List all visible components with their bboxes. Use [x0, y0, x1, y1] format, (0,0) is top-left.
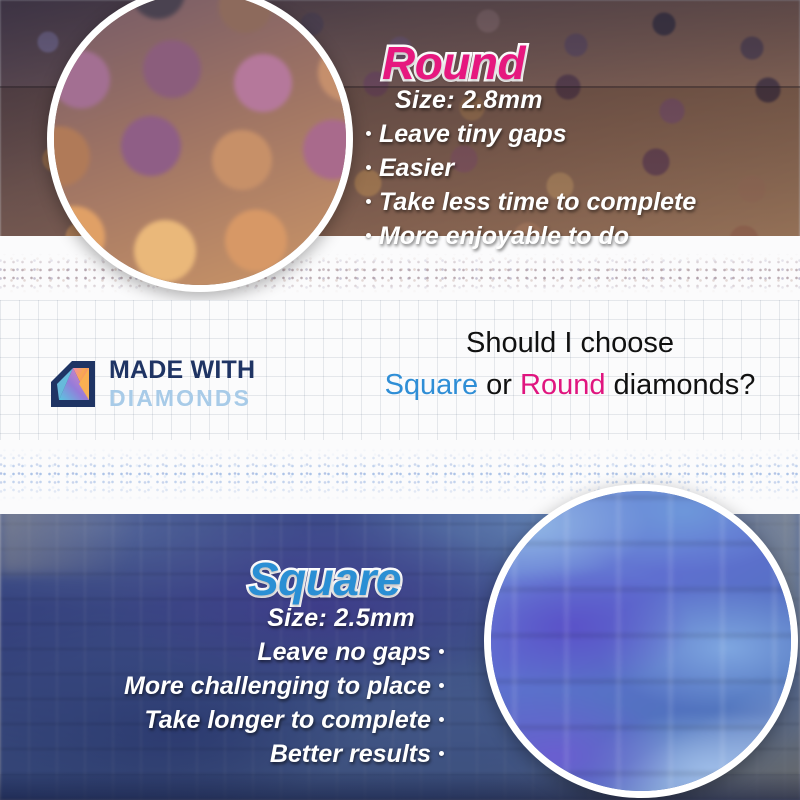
bullet-dot-icon [439, 683, 444, 688]
brand-line-1: MADE WITH [109, 358, 255, 383]
bullet-dot-icon [439, 717, 444, 722]
square-bullet-list: Size: 2.5mm Leave no gaps More challengi… [14, 604, 444, 774]
round-bullet-item: Take less time to complete [366, 188, 786, 217]
round-size-row: Size: 2.8mm [366, 86, 786, 115]
round-bullet-label: Leave tiny gaps [379, 120, 567, 149]
square-bullet-item: More challenging to place [14, 672, 444, 701]
brand-wordmark: MADE WITH DIAMONDS [109, 358, 255, 410]
question-line-2: Square or Round diamonds? [360, 368, 780, 404]
question-line-1: Should I choose [360, 326, 780, 362]
bullet-dot-spacer-icon [439, 615, 444, 620]
question-round-word: Round [520, 369, 605, 401]
bullet-dot-icon [366, 165, 371, 170]
bullet-dot-icon [366, 131, 371, 136]
square-bullet-item: Leave no gaps [14, 638, 444, 667]
round-bullet-label: Take less time to complete [379, 188, 696, 217]
square-bullet-label: Leave no gaps [257, 638, 431, 667]
round-bullet-item: Leave tiny gaps [366, 120, 786, 149]
brand-logo[interactable]: MADE WITH DIAMONDS [46, 358, 255, 410]
round-drill-closeup-photo [47, 0, 353, 292]
diamond-painting-comparison-infographic: Round Size: 2.8mm Leave tiny gaps Easier… [0, 0, 800, 800]
bullet-dot-icon [366, 233, 371, 238]
bullet-dot-icon [366, 199, 371, 204]
square-bullet-item: Take longer to complete [14, 706, 444, 735]
question-block: Should I choose Square or Round diamonds… [360, 326, 780, 404]
bullet-dot-icon [439, 751, 444, 756]
bullet-dot-spacer-icon [366, 97, 371, 102]
round-bullet-label: Easier [379, 154, 454, 183]
diamond-logo-icon [46, 358, 98, 410]
square-bullet-label: Take longer to complete [144, 706, 431, 735]
square-drill-closeup-inset [484, 484, 798, 798]
square-title: Square [248, 552, 401, 606]
square-bullet-item: Better results [14, 740, 444, 769]
square-drill-closeup-photo [484, 484, 798, 798]
round-title: Round [382, 36, 525, 90]
round-drill-closeup-inset [47, 0, 353, 292]
question-square-word: Square [385, 369, 479, 401]
round-bullet-item: More enjoyable to do [366, 222, 786, 251]
question-connector: or [478, 369, 520, 401]
square-bullet-label: More challenging to place [124, 672, 431, 701]
square-size-row: Size: 2.5mm [14, 604, 444, 633]
round-bullet-list: Size: 2.8mm Leave tiny gaps Easier Take … [366, 86, 786, 256]
square-bullet-label: Better results [270, 740, 431, 769]
brand-line-2: DIAMONDS [109, 387, 255, 410]
bullet-dot-icon [439, 649, 444, 654]
round-size-text: Size: 2.8mm [379, 86, 543, 115]
round-bullet-item: Easier [366, 154, 786, 183]
square-size-text: Size: 2.5mm [267, 604, 431, 633]
question-tail: diamonds? [605, 369, 755, 401]
round-bullet-label: More enjoyable to do [379, 222, 629, 251]
middle-band: MADE WITH DIAMONDS Should I choose Squar… [0, 300, 800, 460]
